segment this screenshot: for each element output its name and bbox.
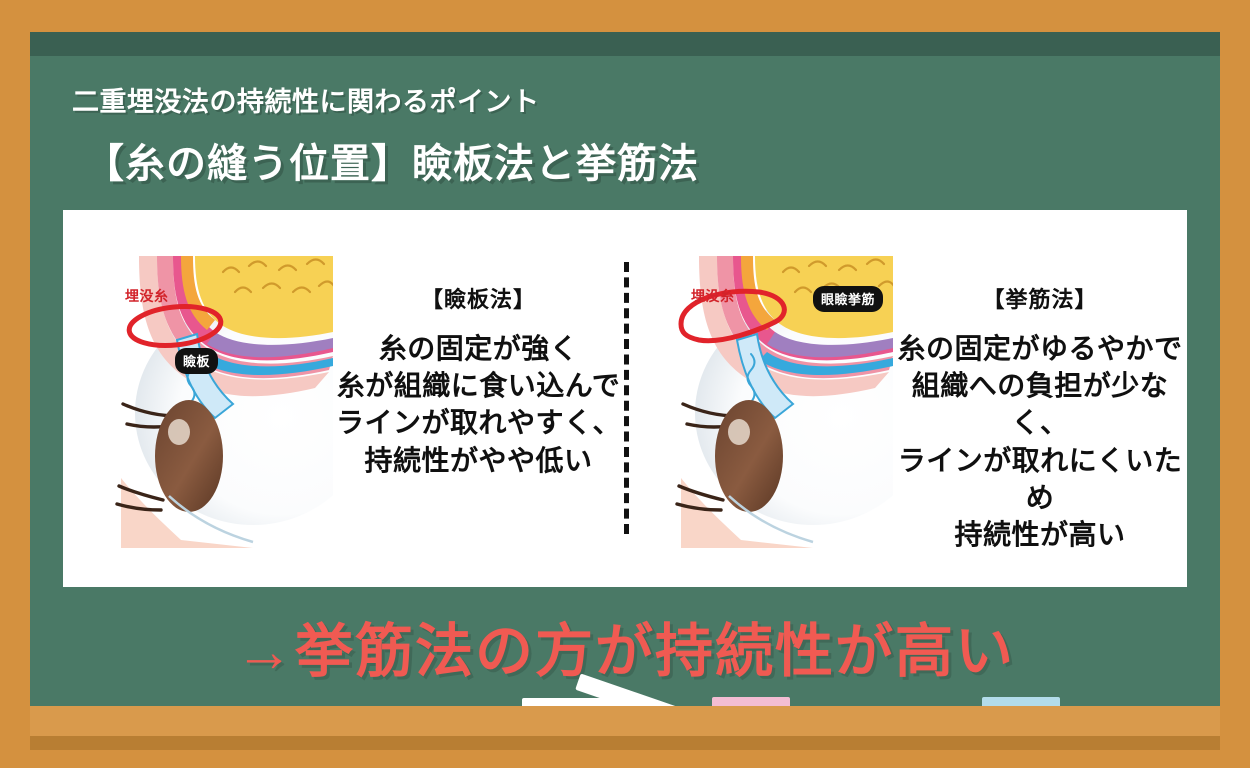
panel-tarsal-method: 埋没糸 瞼板 【瞼板法】 糸の固定が強く 糸が組織に食い込んで ラインが取れやす… — [63, 210, 624, 587]
tarsal-plate-badge: 瞼板 — [175, 348, 218, 374]
page-subtitle: 二重埋没法の持続性に関わるポイント — [72, 80, 540, 119]
levator-line-1: 糸の固定がゆるやかで — [893, 330, 1187, 367]
suture-label: 埋没糸 — [125, 286, 169, 306]
levator-line-2: 組織への負担が少なく、 — [893, 367, 1187, 441]
conclusion-text: →挙筋法の方が持続性が高い — [0, 604, 1250, 688]
levator-muscle-badge: 眼瞼挙筋 — [813, 286, 883, 312]
tarsal-line-4: 持続性がやや低い — [333, 442, 624, 479]
panel-levator-method: 埋没糸 眼瞼挙筋 【挙筋法】 糸の固定がゆるやかで 組織への負担が少なく、 ライ… — [629, 210, 1187, 587]
chalk-ledge — [30, 706, 1220, 736]
levator-method-copy: 【挙筋法】 糸の固定がゆるやかで 組織への負担が少なく、 ラインが取れにくいため… — [893, 210, 1187, 553]
tarsal-line-2: 糸が組織に食い込んで — [333, 367, 624, 404]
chalk-ledge-shadow — [30, 736, 1220, 750]
tarsal-method-tag: 【瞼板法】 — [333, 282, 624, 314]
levator-line-4: 持続性が高い — [893, 516, 1187, 553]
slide-root: 二重埋没法の持続性に関わるポイント 【糸の縫う位置】瞼板法と挙筋法 — [0, 0, 1250, 768]
tarsal-line-1: 糸の固定が強く — [333, 330, 624, 367]
eye-anatomy-diagram-tarsal: 埋没糸 瞼板 — [103, 248, 333, 548]
page-title: 【糸の縫う位置】瞼板法と挙筋法 — [84, 131, 699, 189]
tarsal-line-3: ラインが取れやすく、 — [333, 404, 624, 441]
content-card: 埋没糸 瞼板 【瞼板法】 糸の固定が強く 糸が組織に食い込んで ラインが取れやす… — [63, 210, 1187, 587]
levator-line-3: ラインが取れにくいため — [893, 442, 1187, 516]
suture-label: 埋没糸 — [691, 286, 735, 306]
chalkboard-top-strip — [30, 32, 1220, 56]
tarsal-method-copy: 【瞼板法】 糸の固定が強く 糸が組織に食い込んで ラインが取れやすく、 持続性が… — [333, 210, 624, 479]
eye-anatomy-diagram-levator: 埋没糸 眼瞼挙筋 — [663, 248, 893, 548]
levator-method-tag: 【挙筋法】 — [893, 282, 1187, 314]
